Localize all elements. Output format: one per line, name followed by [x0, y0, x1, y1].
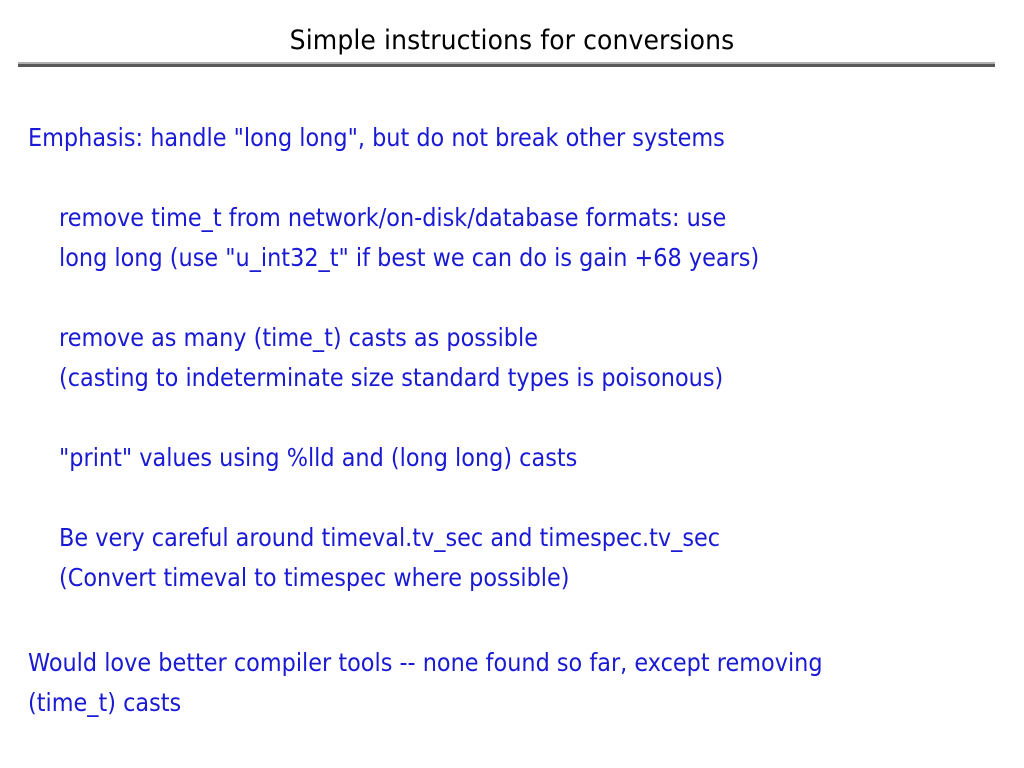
bullet-remove-formats-line-1: remove time_t from network/on-disk/datab…: [59, 198, 759, 238]
bullet-compiler-tools-line-1: Would love better compiler tools -- none…: [28, 643, 823, 683]
bullet-remove-formats-line-2: long long (use "u_int32_t" if best we ca…: [59, 238, 759, 278]
bullet-emphasis-line-1: Emphasis: handle "long long", but do not…: [28, 118, 725, 158]
bullet-timeval-timespec-line-1: Be very careful around timeval.tv_sec an…: [59, 518, 720, 558]
bullet-compiler-tools-line-2: (time_t) casts: [28, 683, 823, 723]
bullet-emphasis: Emphasis: handle "long long", but do not…: [28, 118, 725, 158]
presentation-slide: Simple instructions for conversions Emph…: [0, 0, 1024, 768]
bullet-print-values: "print" values using %lld and (long long…: [59, 438, 577, 478]
bullet-timeval-timespec: Be very careful around timeval.tv_sec an…: [59, 518, 720, 598]
bullet-remove-casts-line-2: (casting to indeterminate size standard …: [59, 358, 723, 398]
bullet-timeval-timespec-line-2: (Convert timeval to timespec where possi…: [59, 558, 720, 598]
bullet-compiler-tools: Would love better compiler tools -- none…: [28, 643, 823, 723]
bullet-remove-casts-line-1: remove as many (time_t) casts as possibl…: [59, 318, 723, 358]
bullet-remove-formats: remove time_t from network/on-disk/datab…: [59, 198, 759, 278]
bullet-remove-casts: remove as many (time_t) casts as possibl…: [59, 318, 723, 398]
bullet-print-values-line-1: "print" values using %lld and (long long…: [59, 438, 577, 478]
slide-body: Emphasis: handle "long long", but do not…: [0, 0, 1024, 768]
